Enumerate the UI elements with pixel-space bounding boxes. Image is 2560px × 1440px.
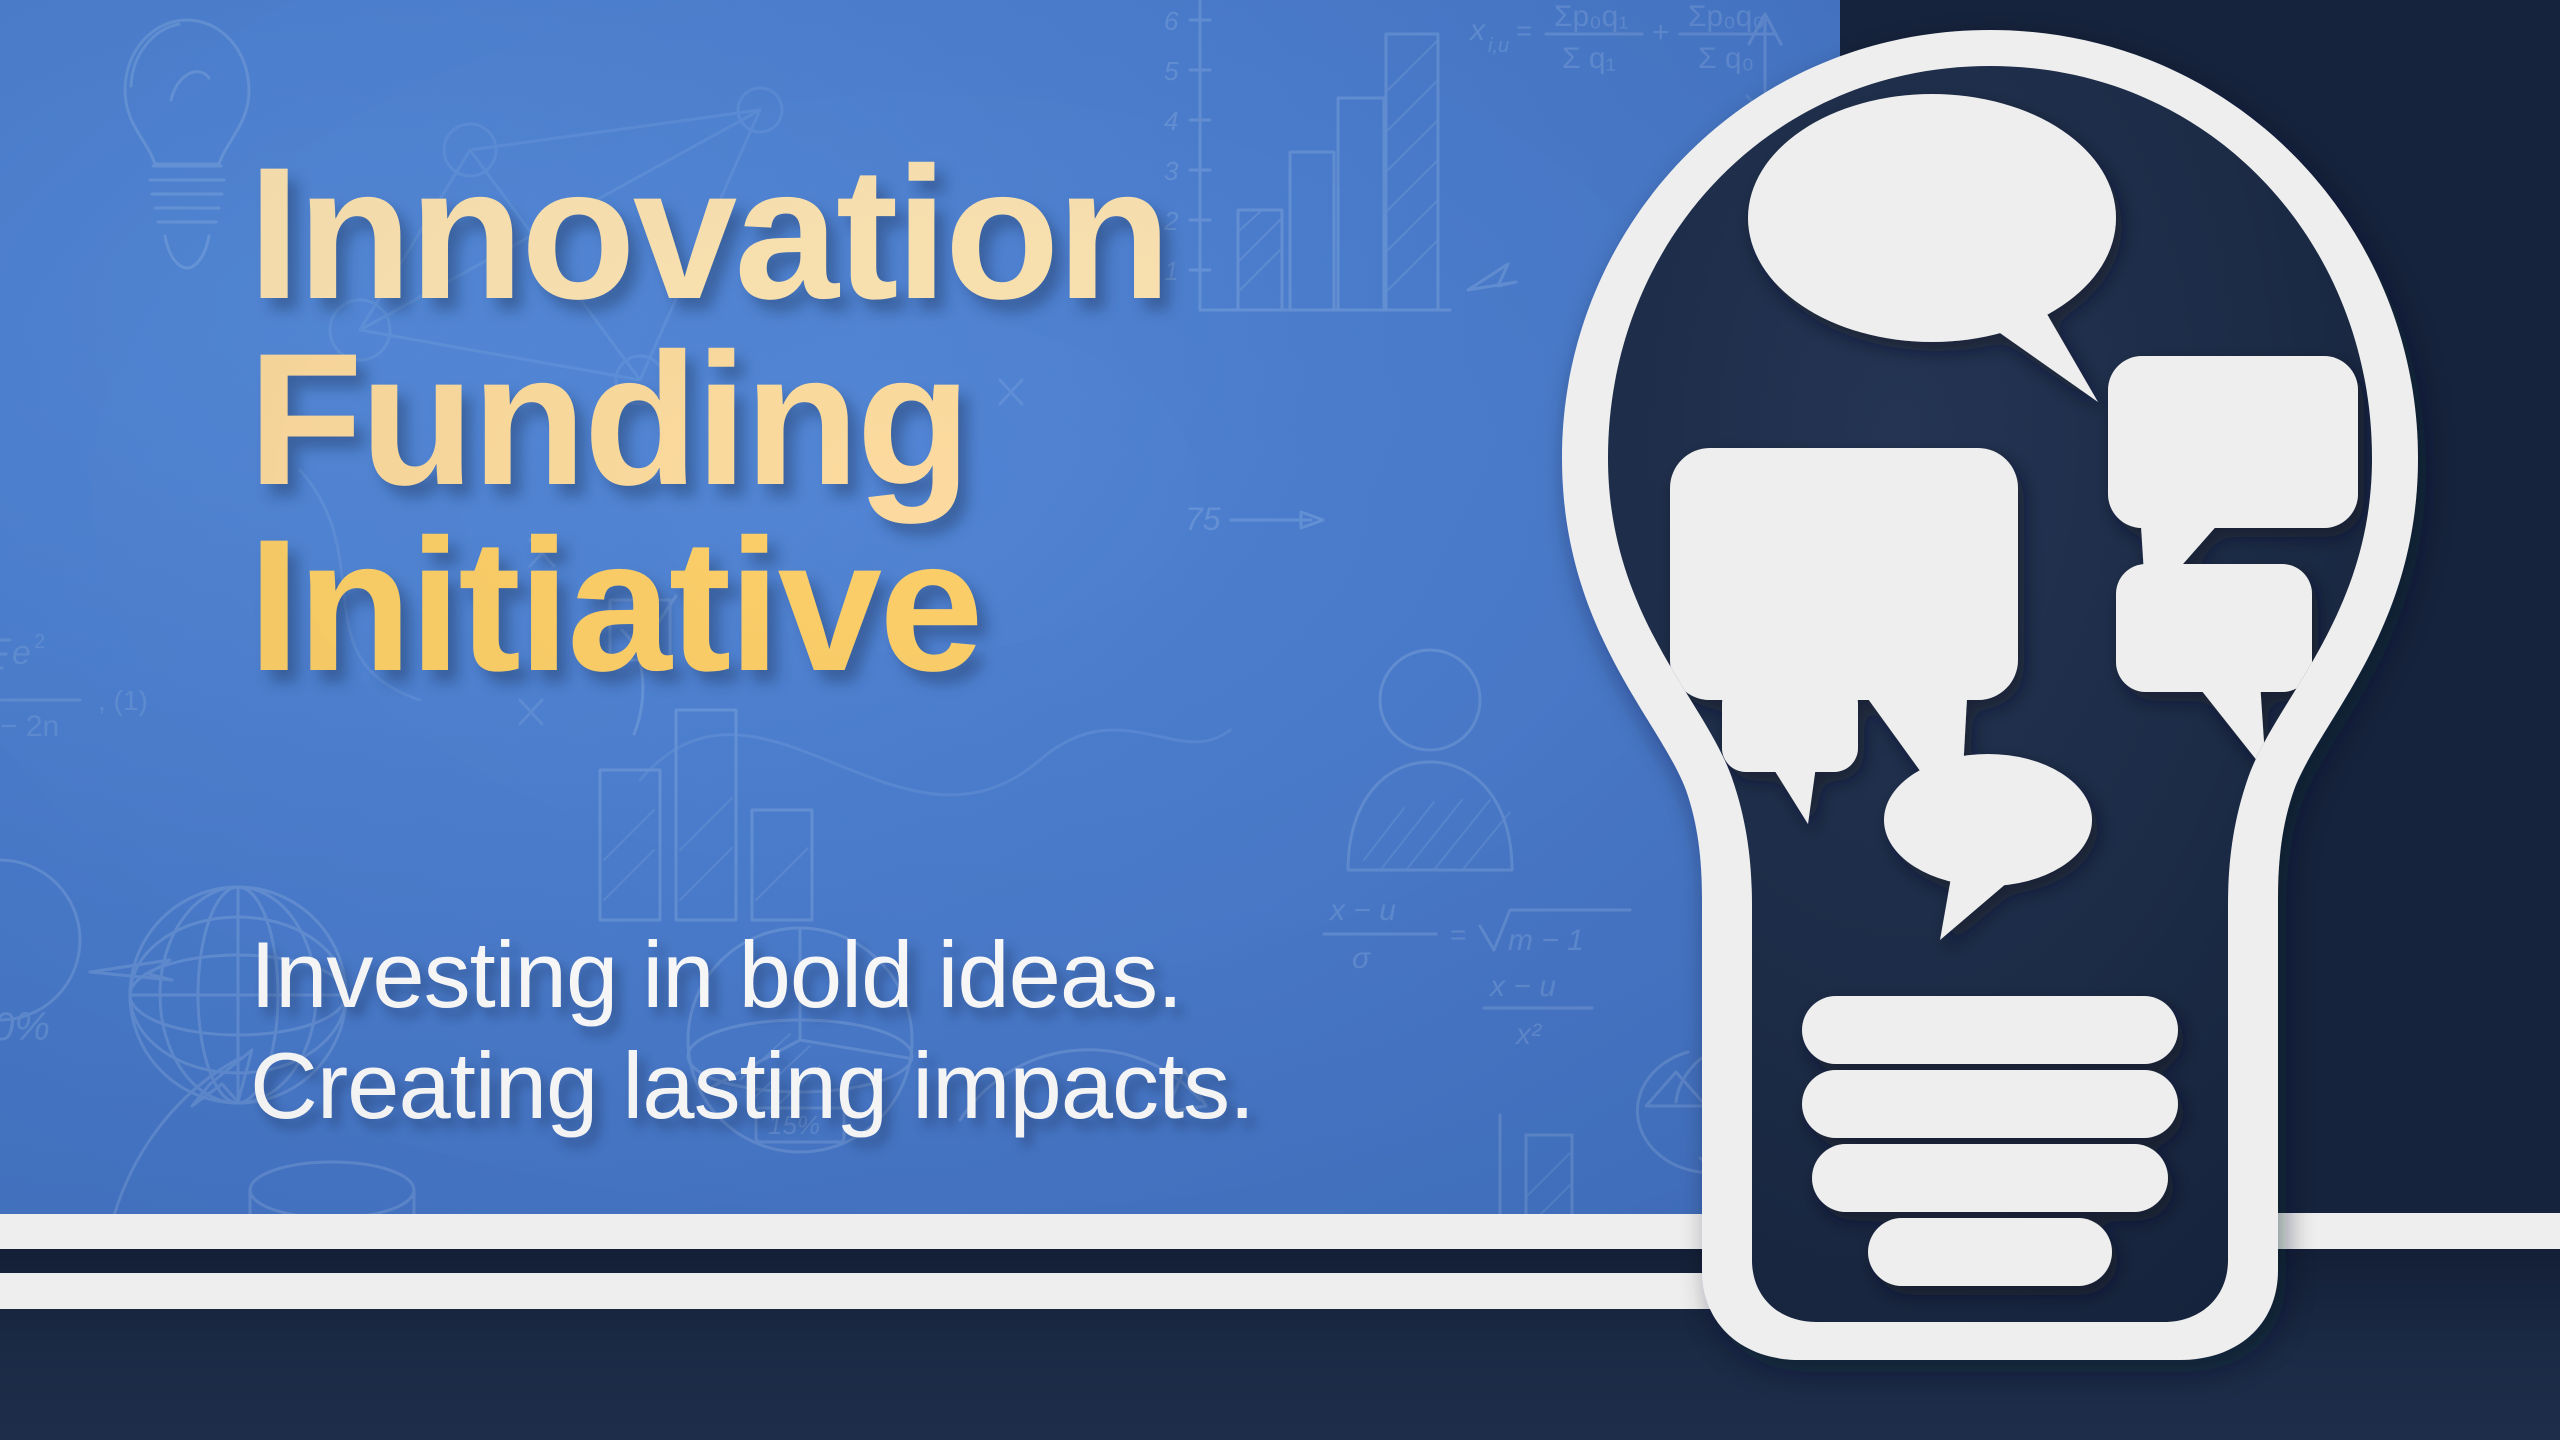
subtitle: Investing in bold ideas. Creating lastin… [250, 920, 1550, 1142]
svg-text:x: x [1468, 14, 1486, 47]
lightbulb-speech-bubbles-icon [1560, 30, 2420, 1360]
svg-text:Σp₀q₁: Σp₀q₁ [1554, 0, 1629, 33]
svg-text:, (1): , (1) [98, 685, 148, 716]
bulb-base-bar-2 [1802, 1070, 2178, 1138]
doodle-paper-plane-arrow [110, 1050, 252, 1214]
headline-line-2: Funding [248, 326, 1448, 512]
svg-text:− 2n: − 2n [0, 710, 59, 743]
headline: Innovation Funding Initiative [248, 140, 1448, 698]
svg-text:6: 6 [1164, 6, 1179, 36]
bulb-base-bar-1 [1802, 996, 2178, 1064]
svg-text:=: = [1516, 15, 1532, 46]
bulb-base-bar-3 [1812, 1144, 2168, 1212]
svg-text:50%: 50% [0, 1005, 50, 1049]
doodle-math-formula-left: e 2 − 2n , (1) [0, 631, 148, 743]
doodle-sketched-lightbulb [125, 20, 249, 268]
banner-canvas: e 2 − 2n , (1) [0, 0, 2560, 1440]
svg-text:2: 2 [34, 631, 45, 653]
headline-line-1: Innovation [248, 140, 1448, 326]
svg-text:e: e [12, 634, 31, 672]
bulb-base-bar-4 [1868, 1218, 2112, 1286]
subtitle-line-2: Creating lasting impacts. [250, 1031, 1550, 1142]
doodle-cylinder [250, 1162, 414, 1214]
doodle-bars-lower-mid [600, 710, 812, 920]
svg-text:i,u: i,u [1488, 35, 1509, 57]
subtitle-line-1: Investing in bold ideas. [250, 920, 1550, 1031]
headline-line-3: Initiative [248, 512, 1448, 698]
svg-text:Σp₀q₀: Σp₀q₀ [1688, 0, 1765, 33]
svg-text:5: 5 [1164, 56, 1179, 86]
